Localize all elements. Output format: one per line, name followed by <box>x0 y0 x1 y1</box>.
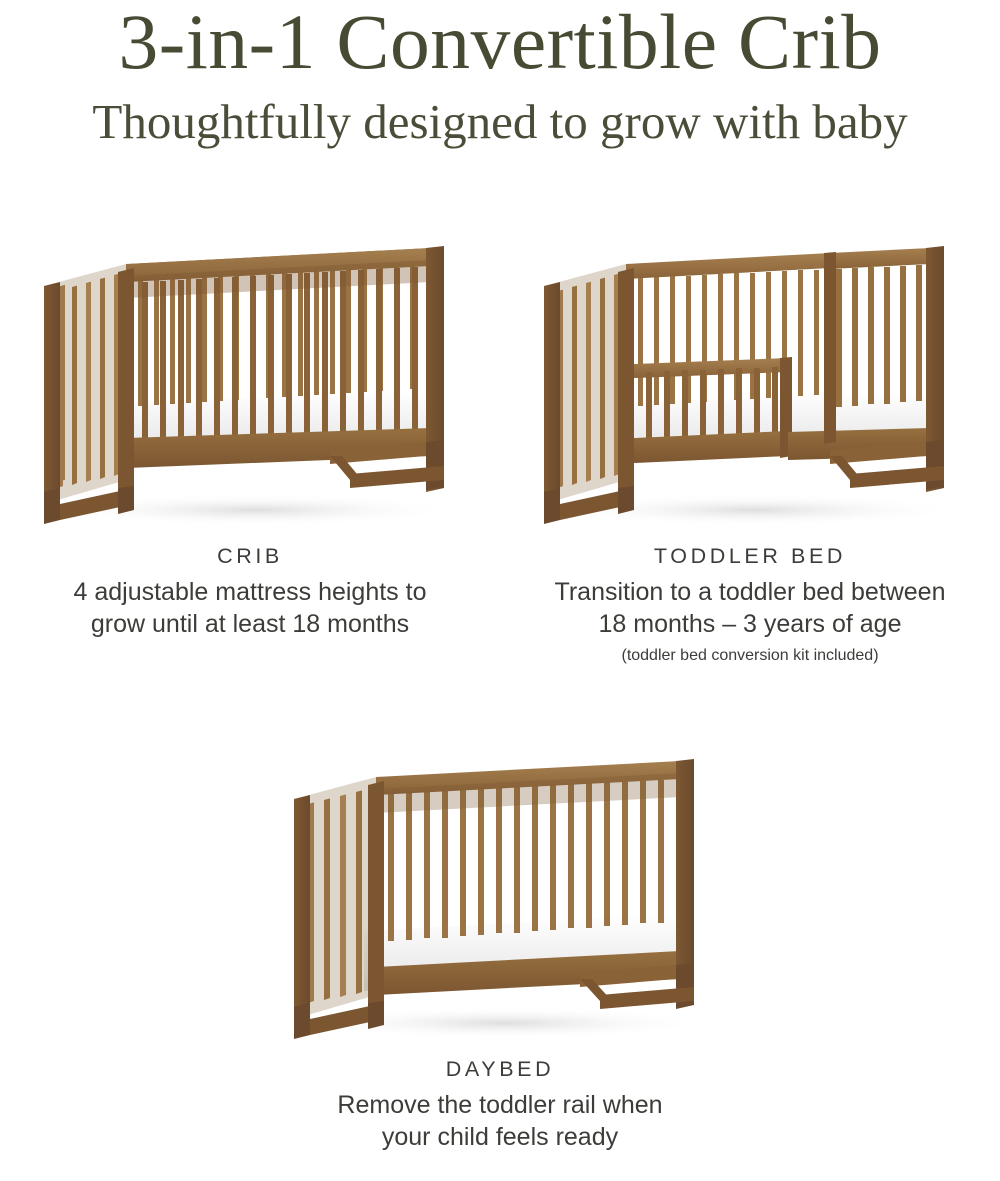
feature-row-bottom: DAYBED Remove the toddler rail whenyour … <box>0 740 1000 1153</box>
left-corner-post <box>368 781 384 1023</box>
left-corner-post <box>618 268 634 508</box>
toddler-bed-illustration <box>530 242 970 532</box>
daybed-caption-title: DAYBED <box>4 1057 996 1082</box>
feature-panel-daybed: DAYBED Remove the toddler rail whenyour … <box>0 740 1000 1153</box>
left-front-post <box>544 282 560 518</box>
page-header: 3-in-1 Convertible Crib Thoughtfully des… <box>0 0 1000 147</box>
toddler-bed-caption-title: TODDLER BED <box>504 544 996 569</box>
daybed-figure <box>0 740 1000 1045</box>
crib-caption-body: 4 adjustable mattress heights togrow unt… <box>4 577 496 640</box>
left-front-post <box>294 795 310 1033</box>
left-corner-post <box>118 268 134 508</box>
toddler-bed-caption-note: (toddler bed conversion kit included) <box>504 646 996 667</box>
toddler-bed-caption-body: Transition to a toddler bed between18 mo… <box>504 577 996 640</box>
toddler-bed-caption: TODDLER BED Transition to a toddler bed … <box>500 544 1000 667</box>
feature-panel-crib: CRIB 4 adjustable mattress heights togro… <box>0 232 500 667</box>
page-subtitle: Thoughtfully designed to grow with baby <box>0 96 1000 147</box>
feature-panel-toddler-bed: TODDLER BED Transition to a toddler bed … <box>500 232 1000 667</box>
crib-illustration <box>30 242 470 532</box>
daybed-illustration <box>280 755 720 1045</box>
daybed-caption-body: Remove the toddler rail whenyour child f… <box>4 1090 996 1153</box>
feature-row-top: CRIB 4 adjustable mattress heights togro… <box>0 232 1000 667</box>
middle-corner-post <box>824 252 836 444</box>
right-top-rail <box>830 248 930 269</box>
crib-caption: CRIB 4 adjustable mattress heights togro… <box>0 544 500 640</box>
left-front-post <box>44 282 60 518</box>
page-title: 3-in-1 Convertible Crib <box>0 2 1000 82</box>
crib-figure <box>0 232 500 532</box>
crib-caption-title: CRIB <box>4 544 496 569</box>
toddler-bed-figure <box>500 232 1000 532</box>
daybed-caption: DAYBED Remove the toddler rail whenyour … <box>0 1057 1000 1153</box>
right-end-panel-slats <box>836 265 922 407</box>
